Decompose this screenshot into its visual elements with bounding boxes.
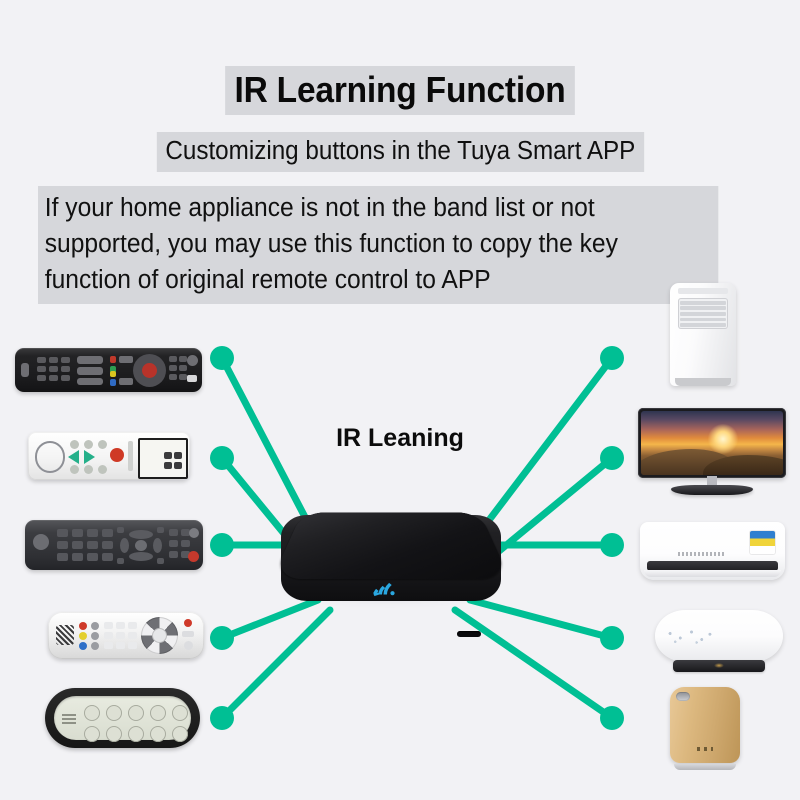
connector-line-right-5 [455,610,612,718]
page-title: IR Learning Function [225,66,575,115]
television [638,408,786,502]
connector-dot-left-4 [210,626,234,650]
connector-line-left-5 [222,610,330,718]
ir-blaster-hub [272,475,510,615]
subtitle-row: Customizing buttons in the Tuya Smart AP… [0,132,800,172]
connector-dot-right-4 [600,626,624,650]
connector-dot-right-1 [600,346,624,370]
text-block: IR Learning Function Customizing buttons… [0,0,800,304]
infographic-page: IR Learning Function Customizing buttons… [0,0,800,800]
page-subtitle: Customizing buttons in the Tuya Smart AP… [156,132,643,172]
air-purifier [664,685,746,770]
connector-dot-right-5 [600,706,624,730]
stb-remote-gray [25,520,203,570]
oval-remote [45,688,200,748]
split-air-conditioner [640,522,785,580]
title-row: IR Learning Function [0,66,800,115]
connection-diagram: IR Leaning [0,270,800,800]
water-heater [652,606,786,676]
portable-air-conditioner [670,283,736,386]
wifi-icon [368,575,398,599]
cable-remote-silver [48,612,204,659]
connector-dot-right-3 [600,533,624,557]
hub-usb-port [457,631,481,637]
ac-remote-white [28,432,190,480]
tv-remote-black [15,348,202,392]
connector-dot-left-3 [210,533,234,557]
connector-dot-left-5 [210,706,234,730]
connector-dot-left-1 [210,346,234,370]
hub-body-top [272,512,510,579]
